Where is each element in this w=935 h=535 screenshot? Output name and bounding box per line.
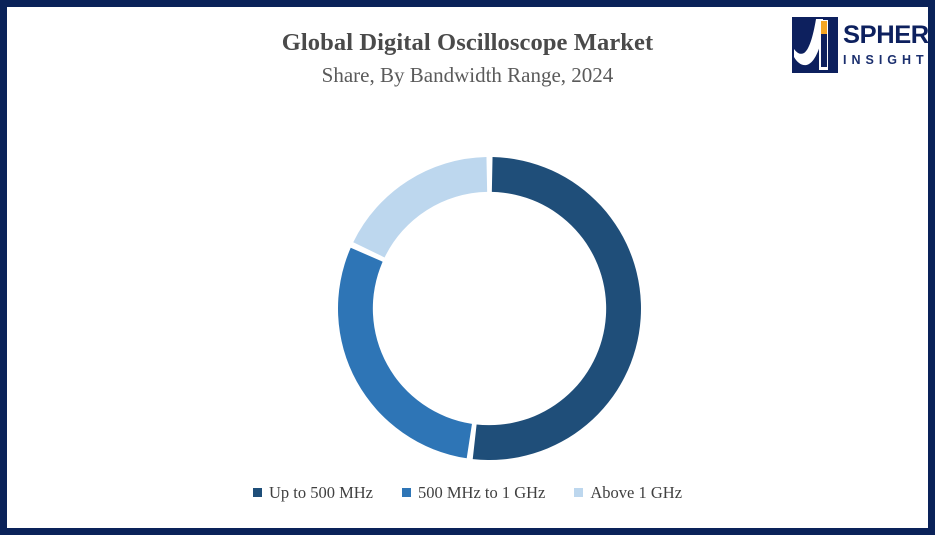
logo-tagline: INSIGHTS — [843, 54, 928, 67]
legend-item-0[interactable]: Up to 500 MHz — [253, 485, 373, 502]
brand-logo: SPHERICAL INSIGHTS — [788, 7, 928, 85]
chart-legend: Up to 500 MHz 500 MHz to 1 GHz Above 1 G… — [7, 485, 928, 502]
legend-swatch-1 — [402, 488, 411, 497]
donut-slice-2[interactable]: Above 1 GHz — 18% — [353, 157, 487, 257]
legend-swatch-0 — [253, 488, 262, 497]
legend-swatch-2 — [574, 488, 583, 497]
legend-item-2[interactable]: Above 1 GHz — [574, 485, 682, 502]
legend-label-0: Up to 500 MHz — [269, 485, 373, 502]
donut-chart: Up to 500 MHz — 52%500 MHz to 1 GHz — 30… — [337, 156, 642, 461]
donut-slice-group: Up to 500 MHz — 52%500 MHz to 1 GHz — 30… — [338, 157, 641, 460]
legend-label-2: Above 1 GHz — [590, 485, 682, 502]
donut-slice-0[interactable]: Up to 500 MHz — 52% — [473, 157, 641, 460]
logo-wordmark: SPHERICAL — [843, 23, 928, 48]
legend-label-1: 500 MHz to 1 GHz — [418, 485, 545, 502]
legend-item-1[interactable]: 500 MHz to 1 GHz — [402, 485, 545, 502]
donut-slice-1[interactable]: 500 MHz to 1 GHz — 30% — [338, 248, 472, 459]
chart-canvas: SPHERICAL INSIGHTS Global Digital Oscill… — [0, 0, 935, 535]
logo-mark-icon — [792, 17, 838, 73]
